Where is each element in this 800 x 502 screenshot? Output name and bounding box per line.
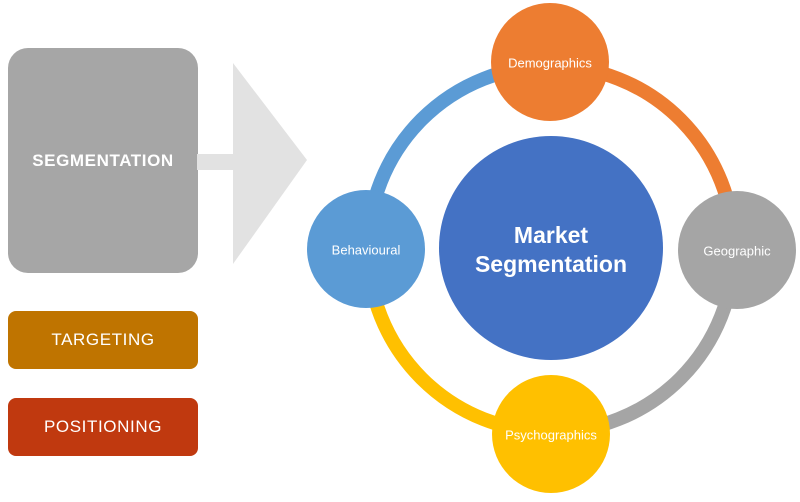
node-geographic[interactable]: Geographic — [678, 191, 796, 309]
demographics-label: Demographics — [508, 55, 592, 70]
targeting-box[interactable]: TARGETING — [8, 311, 198, 369]
node-demographics[interactable]: Demographics — [491, 3, 609, 121]
geographic-label: Geographic — [703, 243, 771, 258]
positioning-label: POSITIONING — [44, 417, 162, 437]
market-segmentation-wheel: Market Segmentation Demographics Geograp… — [295, 0, 800, 502]
behavioural-label: Behavioural — [332, 242, 401, 257]
segmentation-box[interactable]: SEGMENTATION — [8, 48, 198, 273]
node-psychographics[interactable]: Psychographics — [492, 375, 610, 493]
center-circle — [439, 136, 663, 360]
center-label-line2: Segmentation — [475, 251, 627, 277]
positioning-box[interactable]: POSITIONING — [8, 398, 198, 456]
psychographics-label: Psychographics — [505, 427, 597, 442]
segmentation-label: SEGMENTATION — [32, 151, 174, 171]
center-label-line1: Market — [514, 222, 588, 248]
center-node[interactable]: Market Segmentation — [439, 136, 663, 360]
node-behavioural[interactable]: Behavioural — [307, 190, 425, 308]
diagram-canvas: SEGMENTATION TARGETING POSITIONING Marke… — [0, 0, 800, 502]
flow-arrow-shaft — [197, 154, 235, 170]
targeting-label: TARGETING — [51, 330, 154, 350]
